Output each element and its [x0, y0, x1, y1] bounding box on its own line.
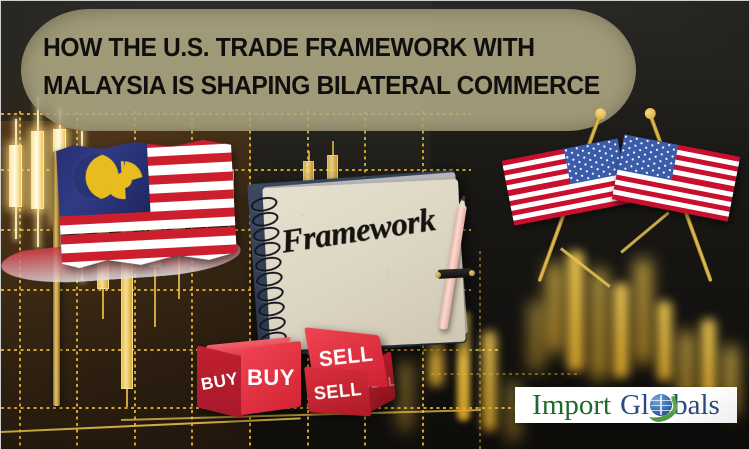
us-flags-group	[499, 109, 739, 289]
malaysia-flag-icon	[56, 135, 237, 272]
notebook: Framework	[247, 170, 467, 357]
sell-die-front-label: SELL	[313, 379, 363, 405]
sell-die-front-face: SELL	[304, 366, 372, 416]
buy-die: BUY BUY	[197, 345, 305, 419]
buy-die-right-label: BUY	[247, 365, 295, 391]
import-globals-logo[interactable]: Import Gl bals	[515, 387, 737, 423]
headline-line-1: HOW THE U.S. TRADE FRAMEWORK WITH	[43, 29, 612, 67]
logo-word-bals: bals	[673, 391, 720, 420]
us-flag-icon-right	[612, 134, 740, 221]
page-title: HOW THE U.S. TRADE FRAMEWORK WITH MALAYS…	[43, 29, 612, 105]
globe-icon	[650, 394, 672, 416]
pencil-elastic-band	[438, 268, 472, 279]
buy-die-left-face: BUY	[197, 345, 243, 418]
trade-article-banner: HOW THE U.S. TRADE FRAMEWORK WITH MALAYS…	[0, 0, 750, 450]
fourteen-point-star-icon	[102, 160, 144, 202]
malaysia-flag-canton	[56, 139, 151, 217]
logo-word-gl: Gl	[620, 391, 649, 420]
headline-line-2: MALAYSIA IS SHAPING BILATERAL COMMERCE	[43, 67, 612, 105]
buy-die-left-label: BUY	[200, 369, 240, 395]
logo-word-import: Import	[532, 391, 611, 420]
us-flag-icon-left	[502, 138, 630, 225]
sell-die: SELL SELL SELL	[301, 326, 401, 419]
buy-die-right-face: BUY	[241, 341, 301, 415]
